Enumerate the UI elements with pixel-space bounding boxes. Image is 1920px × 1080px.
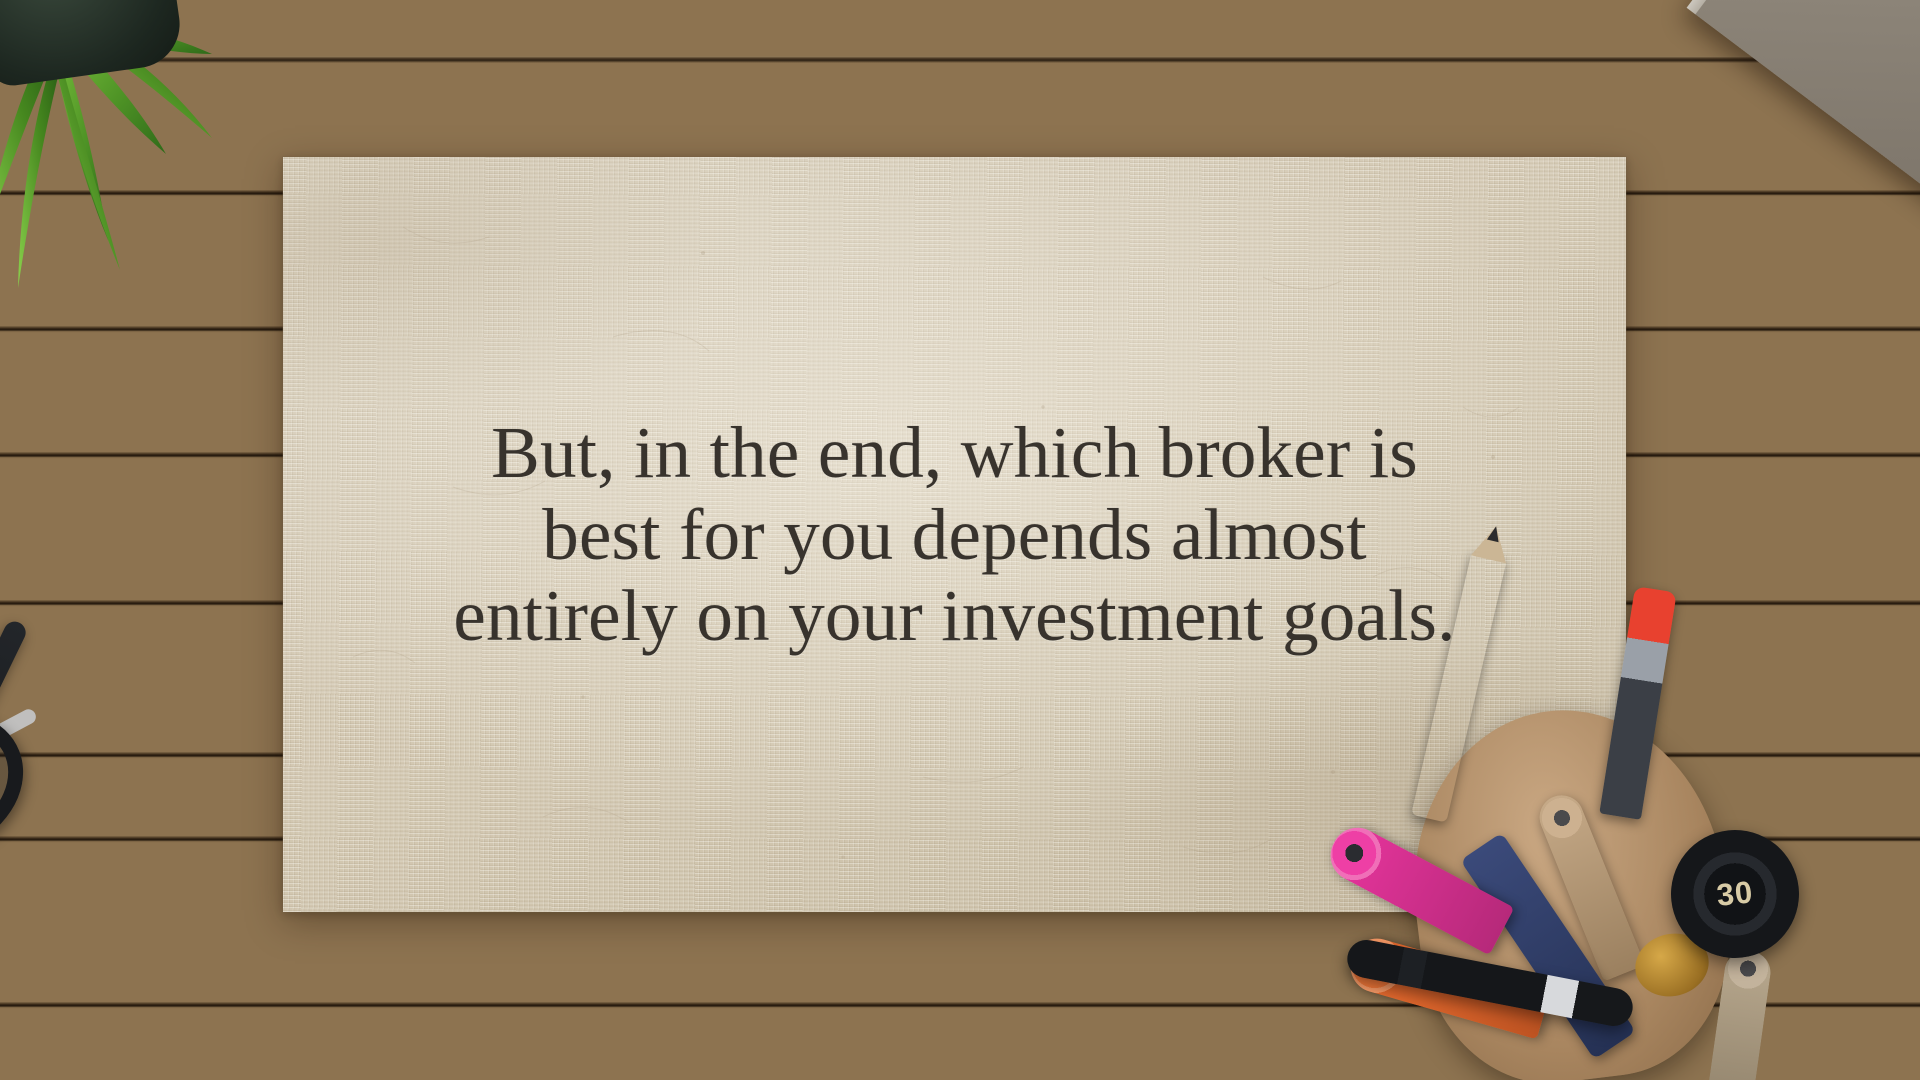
eyeglasses-icon: [0, 600, 230, 930]
tape-measure-label: 30: [1715, 874, 1755, 914]
quote-text: But, in the end, which broker is best fo…: [450, 412, 1460, 657]
potted-plant-icon: [0, 0, 280, 350]
scene-root: But, in the end, which broker is best fo…: [0, 0, 1920, 1080]
plank-seam: [0, 56, 1920, 63]
pencil-cup-icon: 30: [1355, 530, 1920, 1080]
